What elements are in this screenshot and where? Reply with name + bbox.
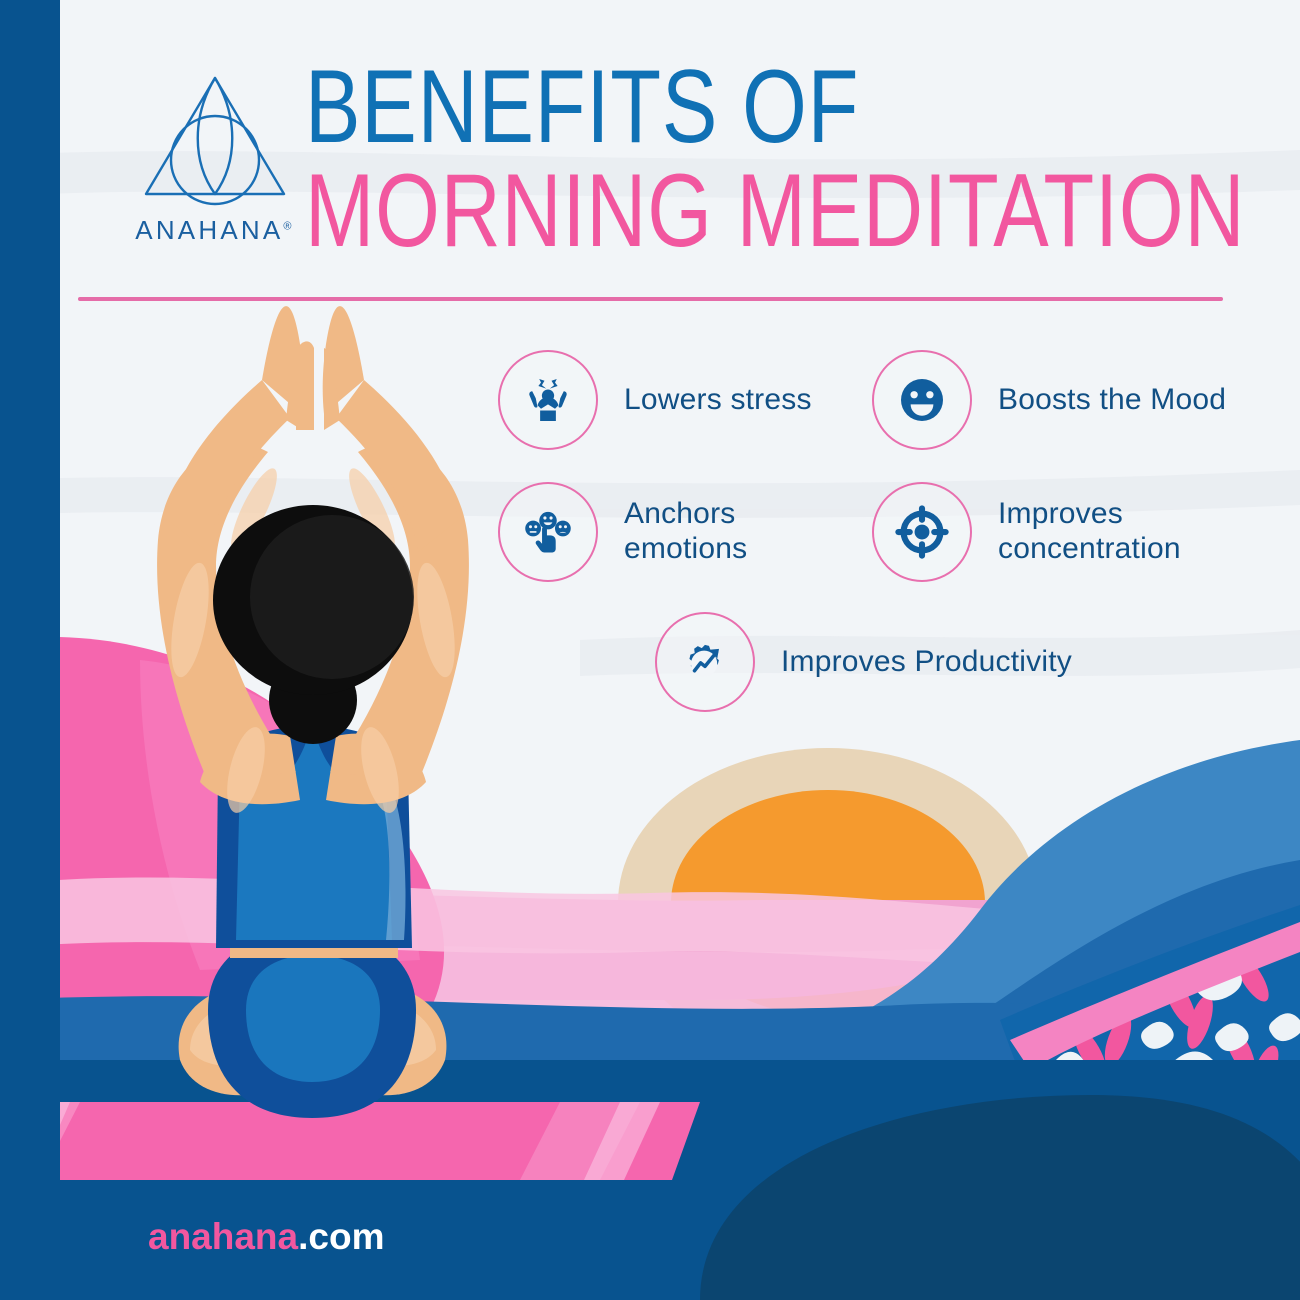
brand-wordmark: ANAHANA® (135, 215, 294, 246)
benefit-item-improves-concentration[interactable]: Improves concentration (872, 482, 1181, 582)
title-line-1: BENEFITS OF (305, 58, 1057, 158)
brand-wordmark-text: ANAHANA (135, 215, 283, 245)
infographic-poster: ANAHANA® BENEFITS OF MORNING MEDITATION (0, 0, 1300, 1300)
crosshair-target-icon (894, 504, 950, 560)
benefit-item-boosts-the-mood[interactable]: Boosts the Mood (872, 350, 1226, 450)
title-line-2: MORNING MEDITATION (305, 162, 1057, 262)
trademark-symbol: ® (283, 220, 294, 232)
page-title: BENEFITS OF MORNING MEDITATION (305, 58, 1245, 262)
footer-tld: .com (298, 1216, 384, 1257)
benefit-label: Improves Productivity (781, 645, 1072, 680)
footer-website-link[interactable]: anahana.com (148, 1216, 384, 1258)
emotion-faces-pointing-hand-icon (520, 504, 576, 560)
footer-brand: anahana (148, 1216, 298, 1257)
smiley-face-icon (894, 372, 950, 428)
person-raised-arms-lightning-icon (520, 372, 576, 428)
shorts-highlight (246, 955, 380, 1082)
benefit-icon-badge (498, 350, 598, 450)
benefit-item-lowers-stress[interactable]: Lowers stress (498, 350, 812, 450)
triquetra-triangle-logo-icon (140, 72, 290, 207)
benefit-label: Anchors emotions (624, 497, 747, 567)
benefit-label: Boosts the Mood (998, 383, 1226, 418)
yoga-mat (0, 1102, 700, 1180)
header: ANAHANA® BENEFITS OF MORNING MEDITATION (0, 0, 1300, 300)
benefit-item-anchors-emotions[interactable]: Anchors emotions (498, 482, 747, 582)
brand-logo[interactable]: ANAHANA® (110, 72, 320, 267)
benefit-icon-badge (498, 482, 598, 582)
benefit-icon-badge (872, 350, 972, 450)
gear-trend-arrow-icon (677, 634, 733, 690)
benefit-item-improves-productivity[interactable]: Improves Productivity (655, 612, 1072, 712)
hair-highlight (250, 515, 414, 679)
benefit-label: Lowers stress (624, 383, 812, 418)
benefit-icon-badge (655, 612, 755, 712)
benefit-icon-badge (872, 482, 972, 582)
benefit-label: Improves concentration (998, 497, 1181, 567)
